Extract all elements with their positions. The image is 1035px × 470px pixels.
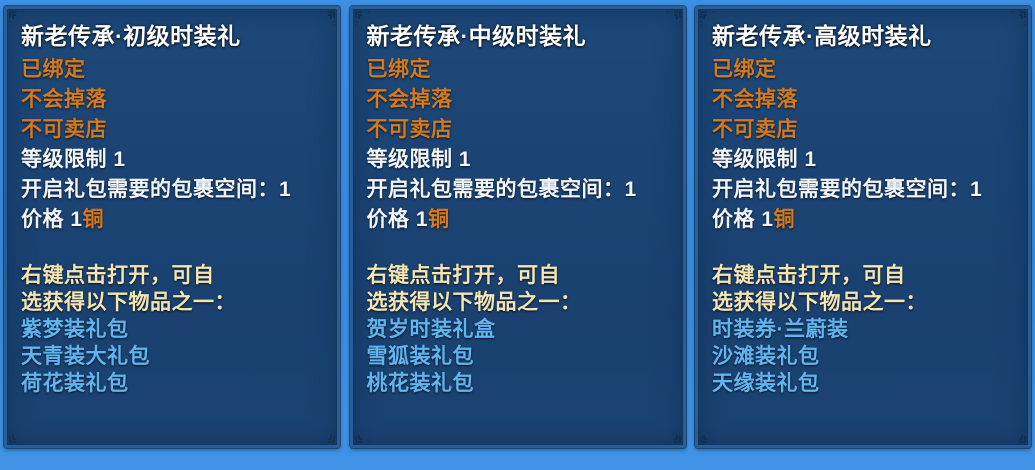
item-level-limit: 等级限制 1: [712, 149, 1014, 170]
reward-item[interactable]: 紫梦装礼包: [21, 319, 323, 340]
reward-item[interactable]: 荷花装礼包: [21, 373, 323, 394]
price-value: 1: [761, 208, 773, 231]
item-flag-no-sell: 不可卖店: [367, 119, 669, 140]
price-currency: 铜: [83, 208, 105, 231]
price-value: 1: [70, 208, 82, 231]
ornament-corner-icon: [354, 427, 371, 444]
item-tooltip-panel-2: 新老传承·中级时装礼 已绑定 不会掉落 不可卖店 等级限制 1 开启礼包需要的包…: [350, 6, 686, 448]
item-name: 新老传承·初级时装礼: [21, 25, 323, 48]
item-usage-line-1: 右键点击打开，可自: [712, 265, 1014, 286]
item-name: 新老传承·高级时装礼: [712, 25, 1014, 48]
price-label: 价格: [367, 208, 410, 231]
ornament-corner-icon: [8, 427, 25, 444]
item-bag-space: 开启礼包需要的包裹空间：1: [367, 179, 669, 200]
tooltip-comparison-stage: 新老传承·初级时装礼 已绑定 不会掉落 不可卖店 等级限制 1 开启礼包需要的包…: [0, 0, 1035, 470]
item-flag-bound: 已绑定: [367, 59, 669, 80]
item-flag-no-drop: 不会掉落: [21, 89, 323, 110]
item-flag-no-sell: 不可卖店: [712, 119, 1014, 140]
reward-item[interactable]: 天缘装礼包: [712, 373, 1014, 394]
price-currency: 铜: [774, 208, 796, 231]
reward-item[interactable]: 桃花装礼包: [367, 373, 669, 394]
item-name: 新老传承·中级时装礼: [367, 25, 669, 48]
ornament-corner-icon: [1010, 427, 1027, 444]
price-value: 1: [416, 208, 428, 231]
ornament-corner-icon: [319, 427, 336, 444]
item-tooltip-panel-3: 新老传承·高级时装礼 已绑定 不会掉落 不可卖店 等级限制 1 开启礼包需要的包…: [695, 6, 1031, 448]
item-bag-space: 开启礼包需要的包裹空间：1: [712, 179, 1014, 200]
price-label: 价格: [712, 208, 755, 231]
divider-space: [367, 239, 669, 265]
price-currency: 铜: [428, 208, 450, 231]
divider-space: [712, 239, 1014, 265]
item-usage-line-2: 选获得以下物品之一：: [367, 292, 669, 313]
item-tooltip-panel-1: 新老传承·初级时装礼 已绑定 不会掉落 不可卖店 等级限制 1 开启礼包需要的包…: [4, 6, 340, 448]
ornament-corner-icon: [665, 427, 682, 444]
item-flag-no-sell: 不可卖店: [21, 119, 323, 140]
item-price: 价格 1铜: [712, 209, 1014, 230]
item-flag-no-drop: 不会掉落: [367, 89, 669, 110]
item-flag-bound: 已绑定: [21, 59, 323, 80]
reward-item[interactable]: 天青装大礼包: [21, 346, 323, 367]
item-level-limit: 等级限制 1: [367, 149, 669, 170]
divider-space: [21, 239, 323, 265]
item-flag-no-drop: 不会掉落: [712, 89, 1014, 110]
item-level-limit: 等级限制 1: [21, 149, 323, 170]
item-usage-line-2: 选获得以下物品之一：: [21, 292, 323, 313]
reward-item[interactable]: 沙滩装礼包: [712, 346, 1014, 367]
item-usage-line-1: 右键点击打开，可自: [367, 265, 669, 286]
reward-item[interactable]: 时装券·兰蔚装: [712, 319, 1014, 340]
item-usage-line-2: 选获得以下物品之一：: [712, 292, 1014, 313]
item-price: 价格 1铜: [367, 209, 669, 230]
item-price: 价格 1铜: [21, 209, 323, 230]
item-usage-line-1: 右键点击打开，可自: [21, 265, 323, 286]
reward-item[interactable]: 贺岁时装礼盒: [367, 319, 669, 340]
item-flag-bound: 已绑定: [712, 59, 1014, 80]
ornament-corner-icon: [699, 427, 716, 444]
item-bag-space: 开启礼包需要的包裹空间：1: [21, 179, 323, 200]
reward-item[interactable]: 雪狐装礼包: [367, 346, 669, 367]
price-label: 价格: [21, 208, 64, 231]
